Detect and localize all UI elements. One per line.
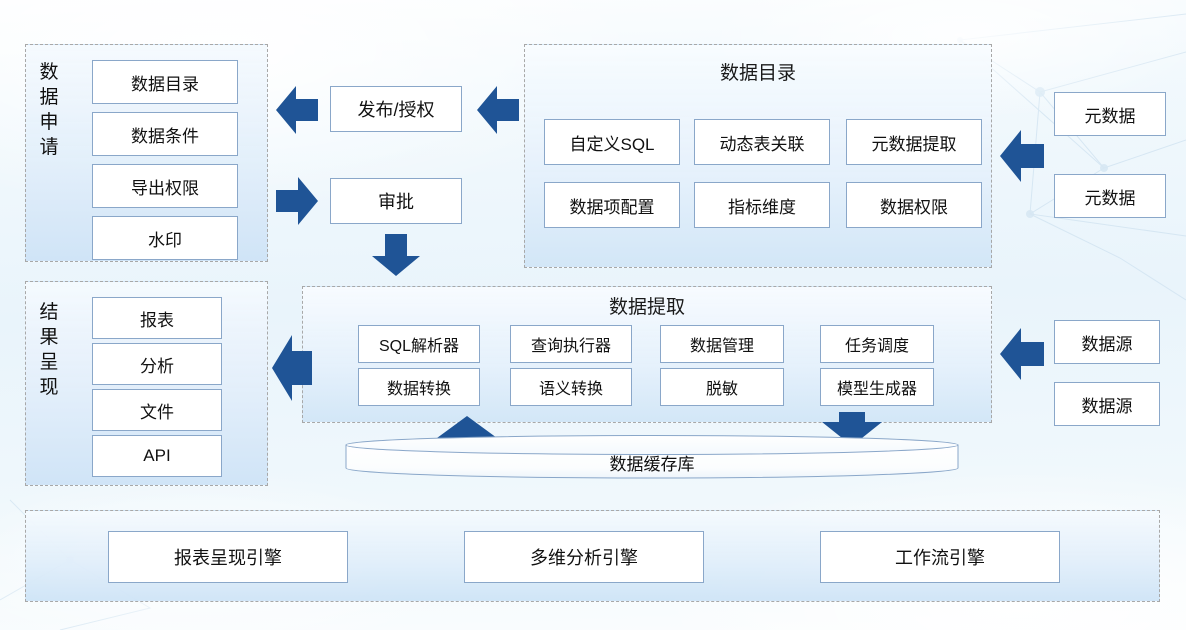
data-application-item-0[interactable]: 数据目录 [92,60,238,104]
data-extraction-item-0[interactable]: SQL解析器 [358,325,480,363]
data-catalog-item-5[interactable]: 数据权限 [846,182,982,228]
data-catalog-item-0[interactable]: 自定义SQL [544,119,680,165]
data-extraction-item-3-label: 任务调度 [845,332,909,356]
engine-item-0-label: 报表呈现引擎 [174,544,282,570]
data-catalog-item-4-label: 指标维度 [728,193,796,218]
group-data-application-label: 数据申请 [34,60,64,160]
data-catalog-item-1[interactable]: 动态表关联 [694,119,830,165]
metadata-source-0-label: 元数据 [1085,102,1136,127]
architecture-diagram-canvas: 数据申请 数据目录 数据条件 导出权限 水印 结果呈现 报表 分析 文件 API… [0,0,1186,630]
data-application-item-2-label: 导出权限 [131,174,199,199]
data-extraction-item-5-label: 语义转换 [539,375,603,399]
engine-item-0[interactable]: 报表呈现引擎 [108,531,348,583]
metadata-source-1-label: 元数据 [1085,184,1136,209]
data-extraction-item-0-label: SQL解析器 [379,332,459,356]
result-presentation-item-3[interactable]: API [92,435,222,477]
data-extraction-item-4-label: 数据转换 [387,375,451,399]
group-result-presentation-label: 结果呈现 [34,300,64,400]
data-extraction-item-2[interactable]: 数据管理 [660,325,784,363]
engine-item-1-label: 多维分析引擎 [530,544,638,570]
data-catalog-title: 数据目录 [524,62,992,85]
data-extraction-item-1-label: 查询执行器 [531,332,611,356]
publish-authorize-label: 发布/授权 [357,96,434,122]
result-presentation-item-2[interactable]: 文件 [92,389,222,431]
engine-item-2[interactable]: 工作流引擎 [820,531,1060,583]
metadata-source-0[interactable]: 元数据 [1054,92,1166,136]
data-source-0[interactable]: 数据源 [1054,320,1160,364]
data-catalog-item-3-label: 数据项配置 [570,193,655,218]
result-presentation-item-0[interactable]: 报表 [92,297,222,339]
publish-authorize-box[interactable]: 发布/授权 [330,86,462,132]
data-catalog-item-3[interactable]: 数据项配置 [544,182,680,228]
data-extraction-item-5[interactable]: 语义转换 [510,368,632,406]
approval-box[interactable]: 审批 [330,178,462,224]
result-presentation-item-0-label: 报表 [140,306,174,331]
arrow-publish-to-application [276,84,318,136]
data-application-item-3[interactable]: 水印 [92,216,238,260]
data-catalog-item-2-label: 元数据提取 [872,130,957,155]
data-extraction-item-6[interactable]: 脱敏 [660,368,784,406]
arrow-approval-to-extraction [370,234,422,276]
data-catalog-item-2[interactable]: 元数据提取 [846,119,982,165]
data-extraction-item-6-label: 脱敏 [706,375,738,399]
data-source-1-label: 数据源 [1082,392,1133,417]
data-application-item-2[interactable]: 导出权限 [92,164,238,208]
data-cache-cylinder: 数据缓存库 [344,434,960,480]
data-catalog-item-4[interactable]: 指标维度 [694,182,830,228]
metadata-source-1[interactable]: 元数据 [1054,174,1166,218]
arrow-catalog-to-publish [477,84,519,136]
data-extraction-item-7[interactable]: 模型生成器 [820,368,934,406]
arrow-application-to-approval [276,175,318,227]
engine-item-1[interactable]: 多维分析引擎 [464,531,704,583]
data-source-1[interactable]: 数据源 [1054,382,1160,426]
arrow-metadata-to-catalog [1000,128,1044,184]
data-extraction-item-1[interactable]: 查询执行器 [510,325,632,363]
data-catalog-item-0-label: 自定义SQL [569,130,654,155]
result-presentation-item-1[interactable]: 分析 [92,343,222,385]
arrow-extraction-to-presentation [272,332,312,404]
data-extraction-item-7-label: 模型生成器 [837,375,917,399]
data-extraction-item-2-label: 数据管理 [690,332,754,356]
data-extraction-item-3[interactable]: 任务调度 [820,325,934,363]
data-extraction-item-4[interactable]: 数据转换 [358,368,480,406]
data-application-item-3-label: 水印 [148,226,182,251]
result-presentation-item-1-label: 分析 [140,352,174,377]
data-catalog-item-1-label: 动态表关联 [720,130,805,155]
data-catalog-item-5-label: 数据权限 [880,193,948,218]
data-application-item-1-label: 数据条件 [131,122,199,147]
data-application-item-1[interactable]: 数据条件 [92,112,238,156]
data-application-item-0-label: 数据目录 [131,70,199,95]
data-source-0-label: 数据源 [1082,330,1133,355]
result-presentation-item-2-label: 文件 [140,398,174,423]
engine-item-2-label: 工作流引擎 [895,544,985,570]
arrow-datasource-to-extraction [1000,326,1044,382]
approval-label: 审批 [378,188,414,214]
data-extraction-title: 数据提取 [302,296,992,319]
result-presentation-item-3-label: API [143,446,170,466]
